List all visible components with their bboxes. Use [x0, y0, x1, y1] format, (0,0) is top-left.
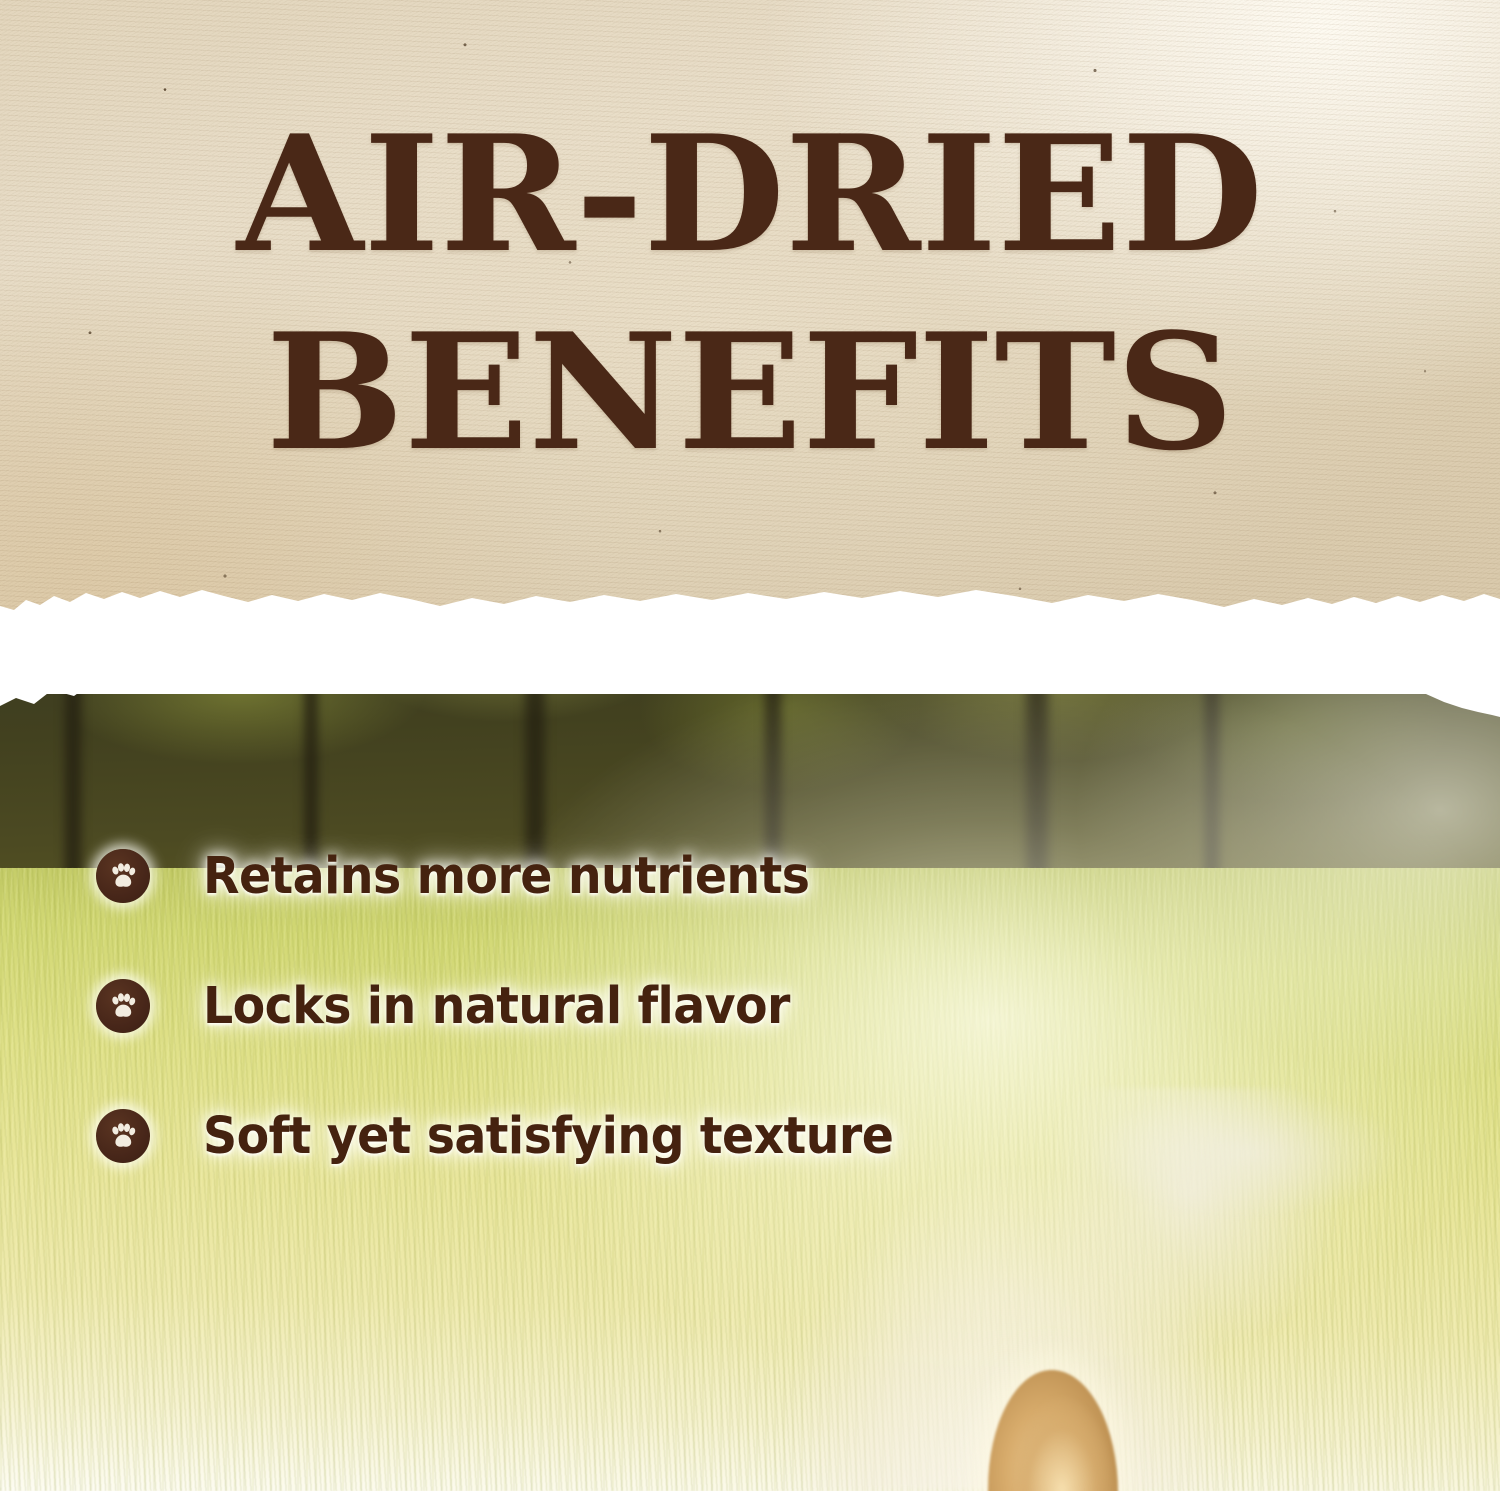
- paw-print-icon: [96, 1109, 150, 1163]
- air-dried-benefits-banner: AIR-DRIED BENEFITS: [0, 0, 1500, 1491]
- benefit-label: Soft yet satisfying texture: [203, 1111, 893, 1162]
- headline-line-2: BENEFITS: [0, 316, 1500, 470]
- benefits-list: Retains more nutrients Locks in natural …: [0, 846, 1500, 1166]
- paw-print-icon: [96, 849, 150, 903]
- benefit-item: Retains more nutrients: [0, 846, 1500, 906]
- benefit-item: Soft yet satisfying texture: [0, 1106, 1500, 1166]
- headline-line-1: AIR-DRIED: [0, 118, 1500, 272]
- headline: AIR-DRIED BENEFITS: [0, 118, 1500, 469]
- paw-print-icon: [96, 979, 150, 1033]
- benefit-label: Locks in natural flavor: [203, 981, 790, 1032]
- benefit-label: Retains more nutrients: [203, 851, 809, 902]
- benefit-item: Locks in natural flavor: [0, 976, 1500, 1036]
- woman-figure: [950, 1358, 1190, 1491]
